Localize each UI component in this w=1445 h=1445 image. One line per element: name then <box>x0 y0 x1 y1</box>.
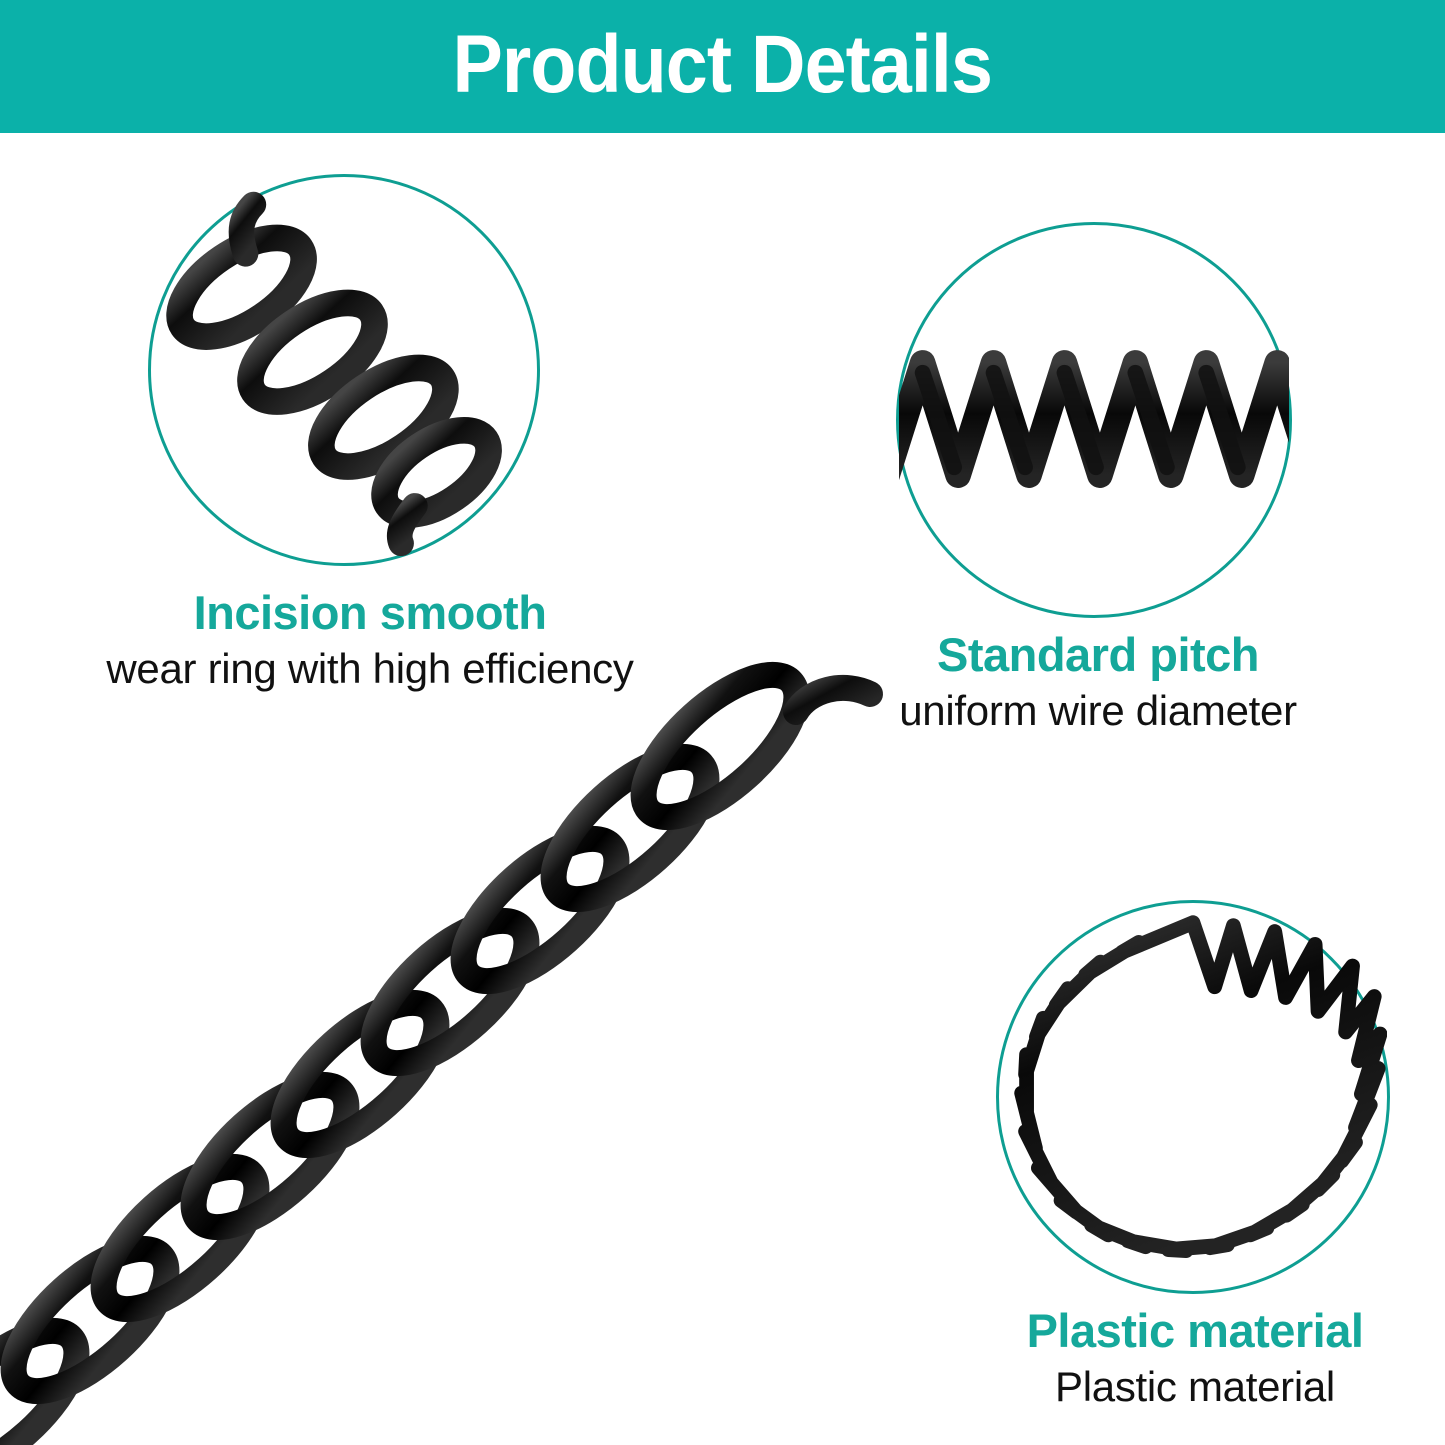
coil-spring-side-icon <box>899 225 1289 615</box>
callout-subtitle-pitch: uniform wire diameter <box>868 687 1328 735</box>
callout-subtitle-plastic: Plastic material <box>980 1363 1410 1411</box>
callout-heading-plastic: Plastic material <box>980 1306 1410 1357</box>
main-product-spring-image <box>0 660 900 1445</box>
page-title: Product Details <box>453 24 993 106</box>
header-banner: Product Details <box>0 0 1445 133</box>
callout-text-pitch: Standard pitch uniform wire diameter <box>868 630 1328 735</box>
spring-cut-end <box>796 688 870 712</box>
callout-text-plastic: Plastic material Plastic material <box>980 1306 1410 1411</box>
coil-spring-end-view-icon <box>999 903 1387 1291</box>
callout-text-incision: Incision smooth wear ring with high effi… <box>60 588 680 693</box>
callout-circle-incision <box>148 174 540 566</box>
spring-coils <box>0 660 870 1445</box>
coil-spring-angled-icon <box>151 177 537 563</box>
callout-heading-pitch: Standard pitch <box>868 630 1328 681</box>
product-details-page: Product Details <box>0 0 1445 1445</box>
callout-subtitle-incision: wear ring with high efficiency <box>60 645 680 693</box>
callout-circle-plastic <box>996 900 1390 1294</box>
callout-circle-pitch <box>896 222 1292 618</box>
callout-heading-incision: Incision smooth <box>60 588 680 639</box>
